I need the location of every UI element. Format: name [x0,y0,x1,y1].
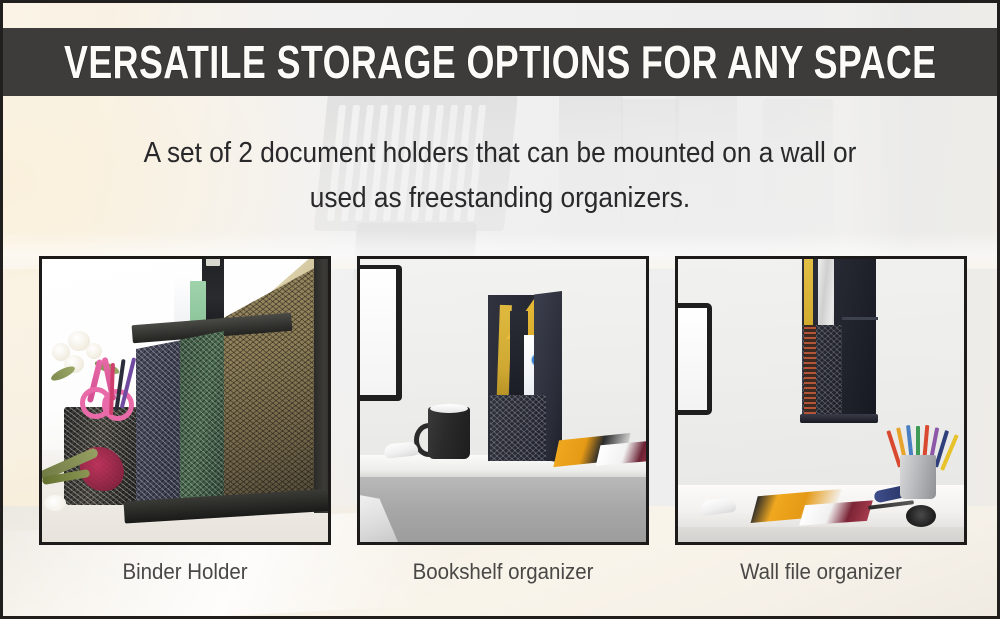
caption-wall-file-organizer: Wall file organizer [685,559,957,585]
flower-leaf [49,364,76,383]
panel3-wall-file-organizer [802,256,876,421]
subtitle-block: A set of 2 document holders that can be … [89,131,911,221]
panel3-metal-pencil-cup [900,455,936,499]
caption-binder-holder: Binder Holder [49,559,321,585]
product-panel-binder-holder [39,256,331,545]
panel2-document-organizer [488,295,556,461]
wall-organizer-divider [842,317,878,320]
organizer-mesh-front [490,395,546,461]
product-panel-bookshelf-organizer [357,256,649,545]
caption-row: Binder Holder Bookshelf organizer Wall f… [39,559,967,585]
panel3-monitor-edge [676,303,712,415]
wall-organizer-bottom-lip [800,414,878,423]
panel1-petal [44,495,66,511]
panel2-desk-front [360,477,646,545]
subtitle-line-1: A set of 2 document holders that can be … [89,131,911,176]
panel3-desk-edge [678,527,964,545]
headline-band: VERSATILE STORAGE OPTIONS FOR ANY SPACE [3,28,997,96]
panel1-holder-front-mesh-2 [180,331,224,507]
panel3-tape-dispenser [906,505,936,527]
subtitle-line-2: used as freestanding organizers. [89,176,911,221]
product-panel-wall-file-organizer [675,256,967,545]
page-title: VERSATILE STORAGE OPTIONS FOR ANY SPACE [64,39,936,85]
product-panel-row [39,256,967,545]
panel2-monitor-edge [357,265,402,401]
panel3-bound-notebook [804,325,816,419]
caption-bookshelf-organizer: Bookshelf organizer [367,559,639,585]
panel1-holder-back-edge [314,256,331,513]
product-infographic: VERSATILE STORAGE OPTIONS FOR ANY SPACE … [0,0,1000,619]
panel2-coffee-mug [428,407,470,459]
panel1-binder-holder [128,256,331,523]
